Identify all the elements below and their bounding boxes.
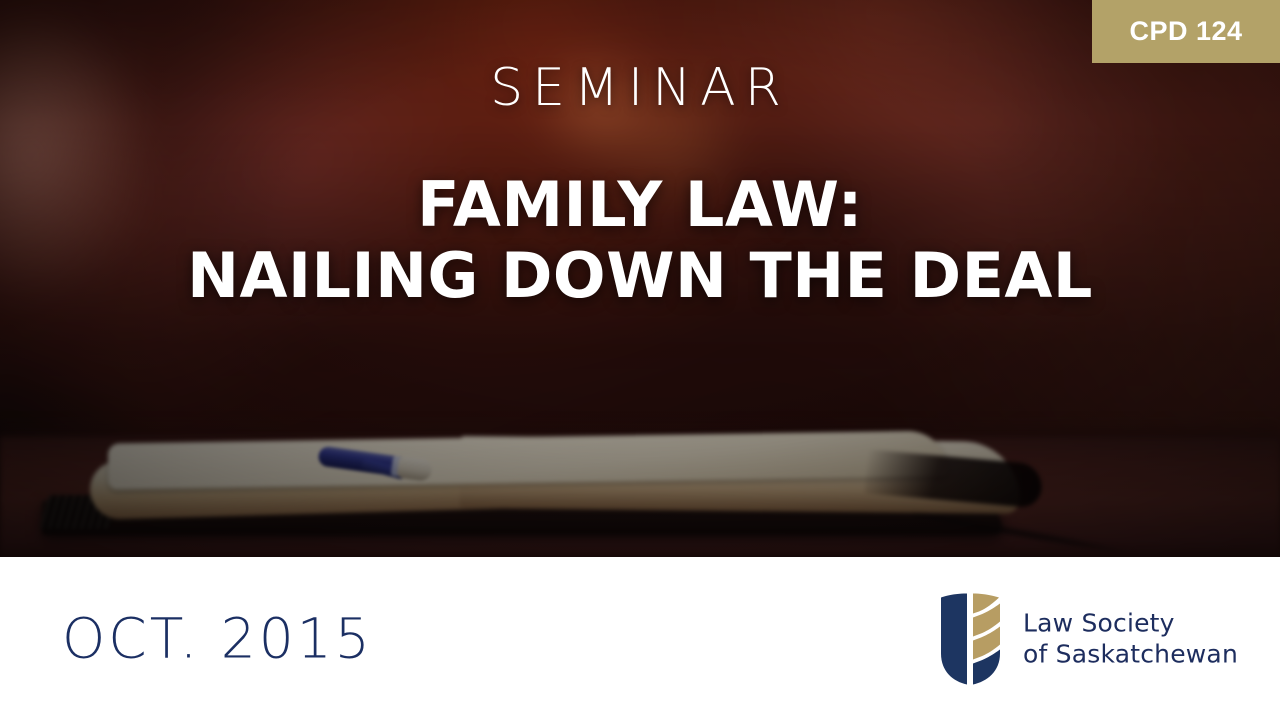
hero-photo-panel: SEMINAR FAMILY LAW: NAILING DOWN THE DEA… <box>0 0 1280 557</box>
law-society-wheat-shield-logo-icon <box>937 591 1005 686</box>
logo-wordmark: Law Society of Saskatchewan <box>1023 608 1238 670</box>
logo-line-1: Law Society <box>1023 608 1238 639</box>
seminar-title-card: SEMINAR FAMILY LAW: NAILING DOWN THE DEA… <box>0 0 1280 720</box>
law-society-logo: Law Society of Saskatchewan <box>937 591 1238 686</box>
date-label: OCT. 2015 <box>62 611 373 666</box>
logo-line-2: of Saskatchewan <box>1023 639 1238 670</box>
cpd-number-badge: CPD 124 <box>1092 0 1280 63</box>
photo-vignette <box>0 0 1280 557</box>
cpd-badge-label: CPD 124 <box>1129 16 1242 47</box>
footer-bar: OCT. 2015 Law Society of Saskatchewan <box>0 557 1280 720</box>
